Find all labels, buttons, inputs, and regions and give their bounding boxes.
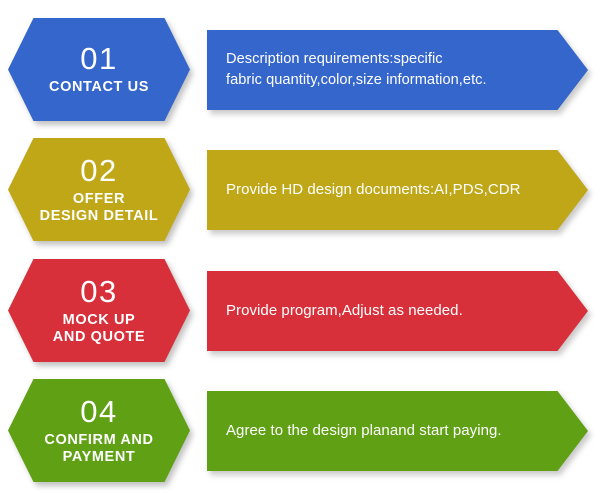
step-banner-shape: Agree to the design planand start paying… [207,391,588,471]
process-step-row: 01 CONTACT US Description requirements:s… [0,18,600,121]
step-badge-03[interactable]: 03 MOCK UP AND QUOTE [8,259,190,362]
step-number: 03 [8,276,190,307]
step-number: 02 [8,155,190,186]
step-badge-04[interactable]: 04 CONFIRM AND PAYMENT [8,379,190,482]
process-step-row: 04 CONFIRM AND PAYMENT Agree to the desi… [0,379,600,482]
step-label: MOCK UP AND QUOTE [8,312,190,344]
process-step-row: 02 OFFER DESIGN DETAIL Provide HD design… [0,138,600,241]
step-badge-content: 01 CONTACT US [8,43,190,95]
step-badge-shape: 04 CONFIRM AND PAYMENT [8,379,190,482]
step-badge-content: 02 OFFER DESIGN DETAIL [8,155,190,223]
step-badge-shape: 01 CONTACT US [8,18,190,121]
step-badge-shape: 02 OFFER DESIGN DETAIL [8,138,190,241]
step-badge-content: 03 MOCK UP AND QUOTE [8,276,190,344]
step-label: CONTACT US [8,79,190,95]
process-flow-diagram: 01 CONTACT US Description requirements:s… [0,0,600,493]
step-description: Provide HD design documents:AI,PDS,CDR [207,179,561,200]
step-label: CONFIRM AND PAYMENT [8,432,190,464]
step-description: Description requirements:specific fabric… [207,49,527,90]
step-banner-04[interactable]: Agree to the design planand start paying… [207,391,588,471]
process-step-row: 03 MOCK UP AND QUOTE Provide program,Adj… [0,259,600,362]
step-number: 01 [8,43,190,74]
step-banner-shape: Provide program,Adjust as needed. [207,271,588,351]
step-number: 04 [8,396,190,427]
step-banner-03[interactable]: Provide program,Adjust as needed. [207,271,588,351]
step-banner-01[interactable]: Description requirements:specific fabric… [207,30,588,110]
step-badge-01[interactable]: 01 CONTACT US [8,18,190,121]
step-banner-shape: Description requirements:specific fabric… [207,30,588,110]
step-badge-content: 04 CONFIRM AND PAYMENT [8,396,190,464]
step-banner-shape: Provide HD design documents:AI,PDS,CDR [207,150,588,230]
step-badge-02[interactable]: 02 OFFER DESIGN DETAIL [8,138,190,241]
step-badge-shape: 03 MOCK UP AND QUOTE [8,259,190,362]
step-description: Agree to the design planand start paying… [207,420,542,441]
step-label: OFFER DESIGN DETAIL [8,191,190,223]
step-banner-02[interactable]: Provide HD design documents:AI,PDS,CDR [207,150,588,230]
step-description: Provide program,Adjust as needed. [207,300,503,321]
